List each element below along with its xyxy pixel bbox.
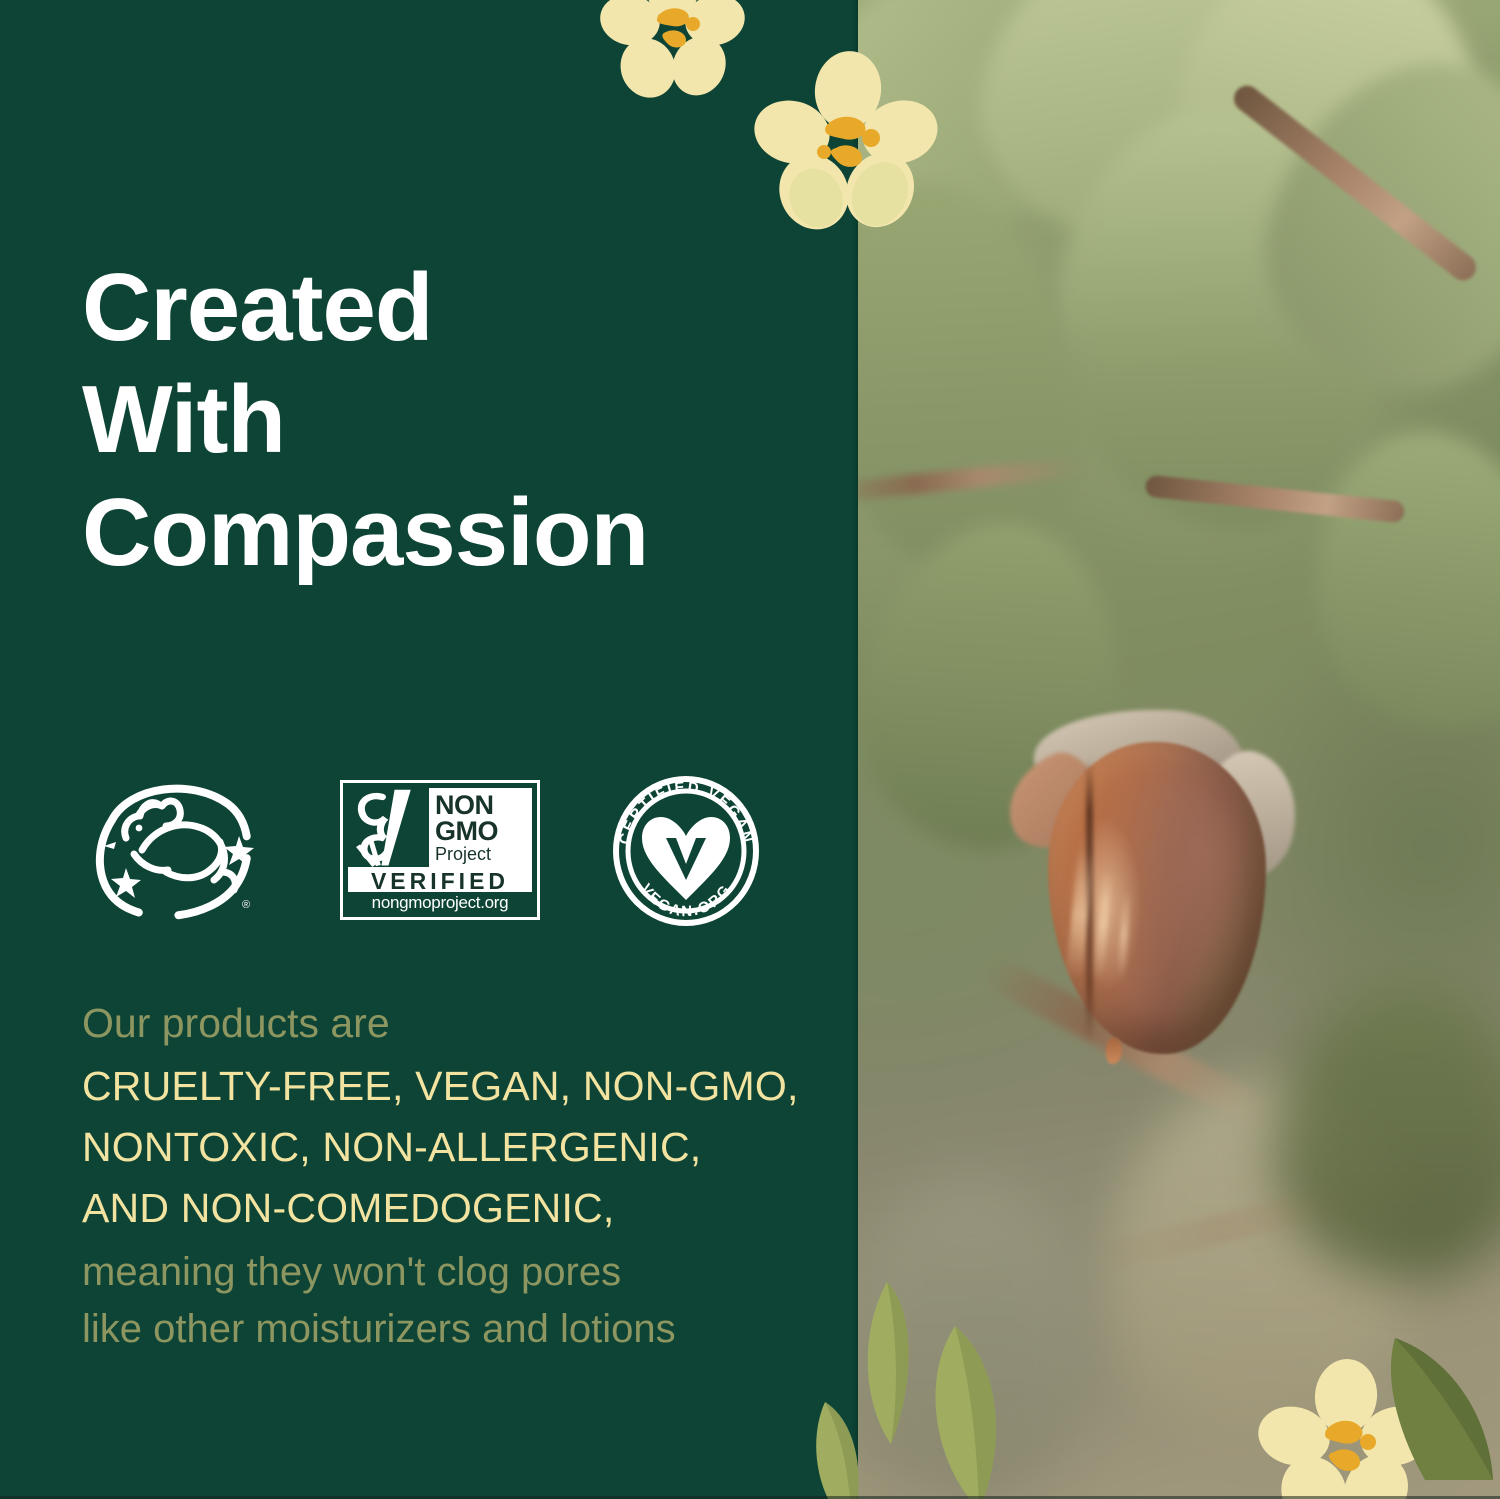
claim-line-1: CRUELTY-FREE, VEGAN, NON-GMO,: [82, 1056, 842, 1117]
outro-line-2: like other moisturizers and lotions: [82, 1301, 842, 1358]
copy-claims: CRUELTY-FREE, VEGAN, NON-GMO, NONTOXIC, …: [82, 1056, 842, 1238]
copy-outro: meaning they won't clog pores like other…: [82, 1244, 842, 1358]
gmo-gmo-text: GMO: [435, 818, 532, 844]
non-gmo-project-badge: NON GMO Project VERIFIED nongmoproject.o…: [340, 780, 540, 920]
jojoba-photo: [845, 0, 1500, 1499]
outro-line-1: meaning they won't clog pores: [82, 1244, 842, 1301]
headline-line-3: Compassion: [82, 477, 842, 589]
butterfly-leaf-icon: [348, 788, 429, 867]
gmo-verified-text: VERIFIED: [348, 867, 532, 892]
promo-banner: Created With Compassion: [0, 0, 1500, 1499]
copy-intro: Our products are: [82, 994, 842, 1052]
claim-line-3: AND NON-COMEDOGENIC,: [82, 1178, 842, 1239]
gmo-non-text: NON: [435, 792, 532, 818]
gmo-url-text: nongmoproject.org: [348, 892, 532, 912]
nut-tip: [1106, 1038, 1122, 1064]
page-title: Created With Compassion: [82, 252, 842, 589]
svg-text:®: ®: [242, 899, 250, 911]
certified-vegan-badge: CERTIFIED VEGAN VEGAN.ORG: [610, 776, 762, 926]
panel-edge-divider: [852, 0, 858, 1499]
jojoba-nut: [1010, 700, 1310, 1070]
body-copy: Our products are CRUELTY-FREE, VEGAN, NO…: [82, 994, 842, 1358]
leaping-bunny-badge: ®: [82, 776, 262, 926]
headline-line-1: Created: [82, 252, 842, 364]
certification-badges: ®: [82, 778, 822, 928]
headline-line-2: With: [82, 364, 842, 476]
claim-line-2: NONTOXIC, NON-ALLERGENIC,: [82, 1117, 842, 1178]
gmo-project-text: Project: [435, 846, 532, 864]
panel-content: Created With Compassion: [82, 0, 822, 1499]
